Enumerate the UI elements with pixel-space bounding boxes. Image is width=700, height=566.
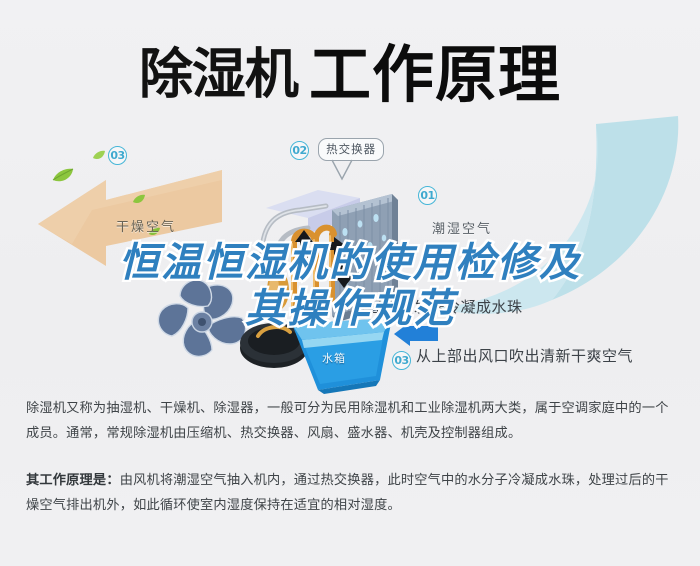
callout-pointer-icon bbox=[330, 159, 356, 181]
page-title: 除湿机 工作原理 bbox=[0, 24, 700, 114]
leaf-icon bbox=[92, 146, 106, 165]
article-body: 除湿机又称为抽湿机、干燥机、除湿器，一般可分为民用除湿机和工业除湿机两大类，属于… bbox=[0, 396, 700, 518]
step-badge-02-heat-exchanger: 02 热交换器 bbox=[290, 138, 384, 161]
humid-air-label: 潮湿空气 bbox=[432, 218, 492, 237]
body-paragraph-2: 其工作原理是：由风机将潮湿空气抽入机内，通过热交换器，此时空气中的水分子冷凝成水… bbox=[26, 468, 674, 518]
body-paragraph-2-rest: 由风机将潮湿空气抽入机内，通过热交换器，此时空气中的水分子冷凝成水珠，处理过后的… bbox=[26, 473, 669, 513]
step-number-03: 03 bbox=[392, 351, 411, 370]
step-badge-03-dry-air: 03 bbox=[108, 144, 127, 165]
infographic-page: 除湿机 工作原理 bbox=[0, 0, 700, 566]
page-title-part1: 除湿机 bbox=[139, 43, 298, 106]
step-badge-01-humid-air: 01 bbox=[418, 184, 437, 205]
heat-exchanger-callout-label: 热交换器 bbox=[318, 138, 384, 161]
leaf-icon bbox=[52, 168, 74, 188]
blue-inlet-arrow-icon bbox=[394, 322, 438, 346]
leaf-icon bbox=[132, 190, 146, 209]
step-description-02-text: 气经过蒸发器冷凝成水珠 bbox=[352, 298, 523, 316]
step-description-03: 03从上部出风口吹出清新干爽空气 bbox=[392, 345, 633, 370]
step-number-03: 03 bbox=[108, 146, 127, 165]
body-paragraph-1: 除湿机又称为抽湿机、干燥机、除湿器，一般可分为民用除湿机和工业除湿机两大类，属于… bbox=[26, 396, 674, 446]
step-description-03-text: 从上部出风口吹出清新干爽空气 bbox=[416, 347, 633, 365]
page-title-part2: 工作原理 bbox=[309, 38, 561, 111]
working-principle-diagram: 水箱 03 02 热交换器 01 干燥空气 潮湿空气 bbox=[0, 118, 700, 390]
water-tank-label: 水箱 bbox=[322, 350, 346, 366]
step-number-02: 02 bbox=[290, 141, 309, 160]
header: 除湿机 工作原理 bbox=[0, 0, 700, 118]
step-description-02: 气经过蒸发器冷凝成水珠 bbox=[352, 296, 523, 317]
step-number-01: 01 bbox=[418, 186, 437, 205]
dry-air-label: 干燥空气 bbox=[116, 216, 176, 235]
body-paragraph-2-lead: 其工作原理是： bbox=[26, 473, 120, 488]
